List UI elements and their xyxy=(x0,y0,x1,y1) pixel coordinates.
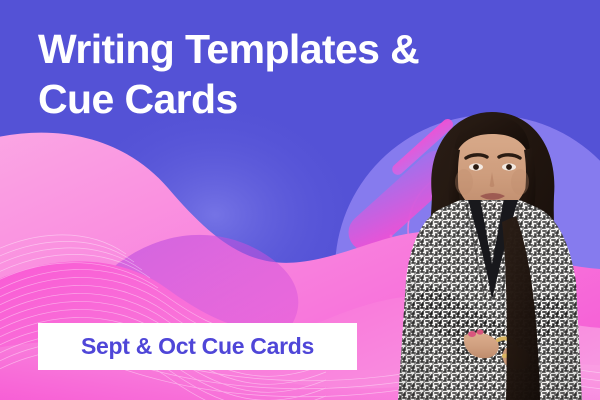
presenter-photo xyxy=(380,104,600,400)
badge-sept-oct-cue-cards[interactable]: Sept & Oct Cue Cards xyxy=(38,323,357,370)
badge-label: Sept & Oct Cue Cards xyxy=(81,333,314,360)
promo-banner: Writing Templates & Cue Cards xyxy=(0,0,600,400)
title-line-1: Writing Templates & xyxy=(38,24,508,74)
